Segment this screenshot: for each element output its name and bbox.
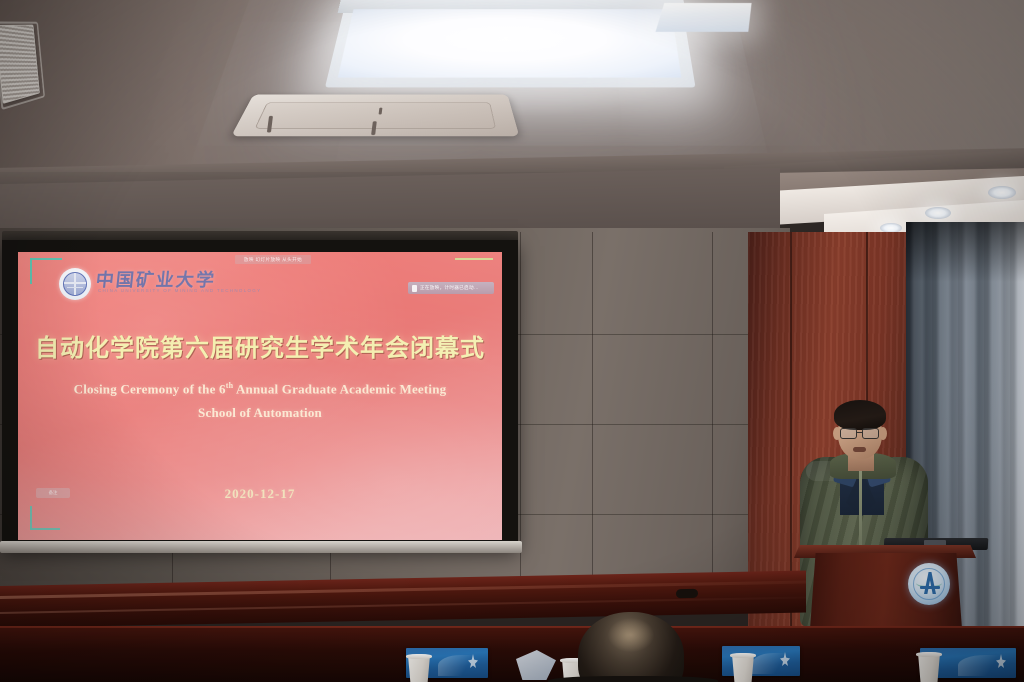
slide-corner-accent (30, 528, 60, 530)
eyeglasses-bridge (857, 432, 862, 433)
emblem-underline (920, 586, 940, 589)
university-name-english: CHINA UNIVERSITY OF MINING AND TECHNOLOG… (98, 288, 261, 293)
microphone-base[interactable] (676, 589, 698, 598)
ppt-notification-toast[interactable]: 正在放映，计时器已启动… (408, 282, 494, 294)
cup-rim (730, 653, 756, 658)
info-icon (412, 285, 417, 292)
slide-subtitle-line1: Closing Ceremony of the 6th Annual Gradu… (18, 381, 502, 397)
wall-seam (592, 232, 593, 588)
slide-corner-accent (455, 258, 493, 260)
slide-date: 2020-12-17 (18, 486, 502, 502)
slide-corner-accent (30, 506, 32, 530)
downlight-icon (988, 186, 1016, 199)
slide-subtitle-line2: School of Automation (18, 405, 502, 421)
eyeglasses-lens-right (862, 428, 879, 439)
fluorescent-panel-light (338, 9, 682, 77)
air-vent-grille-icon (0, 25, 40, 104)
ppt-slideshow-toolbar[interactable]: 放映 幻灯片放映 从头开始 (235, 255, 311, 264)
wall-seam (520, 232, 521, 588)
secondary-light-strip (656, 3, 752, 32)
university-logo-mark (67, 287, 83, 288)
slide-title-chinese: 自动化学院第六届研究生学术年会闭幕式 (18, 328, 502, 363)
front-table (0, 628, 1024, 682)
ceiling-shadow (0, 0, 300, 172)
downlight-icon (925, 207, 951, 219)
projector-screen-bottom-bar (0, 541, 522, 553)
attendee-shoulders (548, 676, 718, 682)
curtain-shadow (906, 222, 1024, 282)
wall-seam (712, 232, 713, 588)
placard-logo-icon (468, 654, 478, 668)
eyeglasses-lens-left (840, 428, 857, 439)
ear-right (879, 427, 887, 440)
cup-rim (406, 654, 432, 659)
placard-logo-icon (780, 652, 790, 666)
slide-subtitle-prefix: Closing Ceremony of the 6 (74, 381, 226, 396)
placard-logo-icon (996, 654, 1006, 668)
conference-room-photo: 中国矿业大学 CHINA UNIVERSITY OF MINING AND TE… (0, 0, 1024, 682)
cup-rim (916, 652, 942, 657)
slide-subtitle-rest: Annual Graduate Academic Meeting (233, 381, 446, 396)
speaker-mouth (853, 447, 866, 452)
slide-corner-accent (30, 258, 62, 260)
ppt-notification-text: 正在放映，计时器已启动… (420, 285, 479, 291)
slide-corner-accent (30, 258, 32, 284)
speaker-hair (834, 400, 886, 430)
university-logo-mark (74, 273, 76, 295)
attendee-head-highlight (608, 618, 654, 652)
